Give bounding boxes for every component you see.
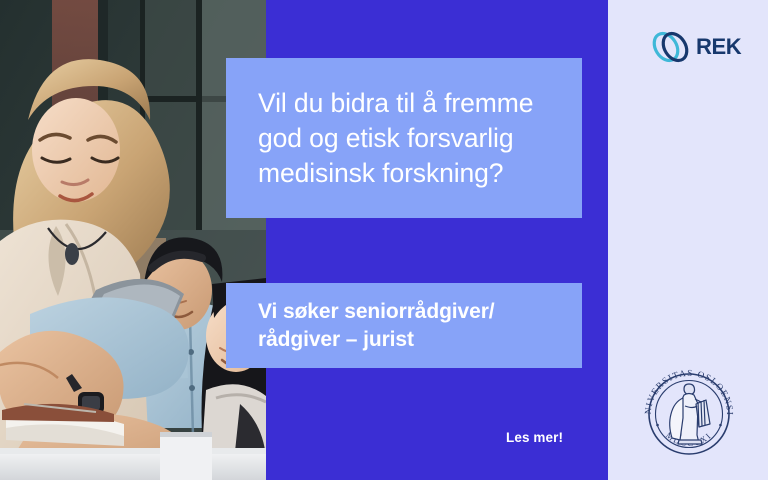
rek-logo[interactable]: REK — [650, 27, 742, 67]
job-title-panel: Vi søker seniorrådgiver/ rådgiver – juri… — [226, 283, 582, 368]
recruitment-banner: Vil du bidra til å fremme god og etisk f… — [0, 0, 768, 480]
headline-text: Vil du bidra til å fremme god og etisk f… — [258, 86, 550, 191]
interlocking-loops-icon — [650, 28, 692, 66]
read-more-link[interactable]: Les mer! — [506, 430, 563, 445]
rek-wordmark: REK — [696, 36, 741, 58]
job-title-text: Vi søker seniorrådgiver/ rådgiver – juri… — [258, 298, 550, 354]
uio-seal: UNIVERSITAS OSLOENSIS MDCCCXI — [637, 362, 741, 466]
headline-panel: Vil du bidra til å fremme god og etisk f… — [226, 58, 582, 218]
